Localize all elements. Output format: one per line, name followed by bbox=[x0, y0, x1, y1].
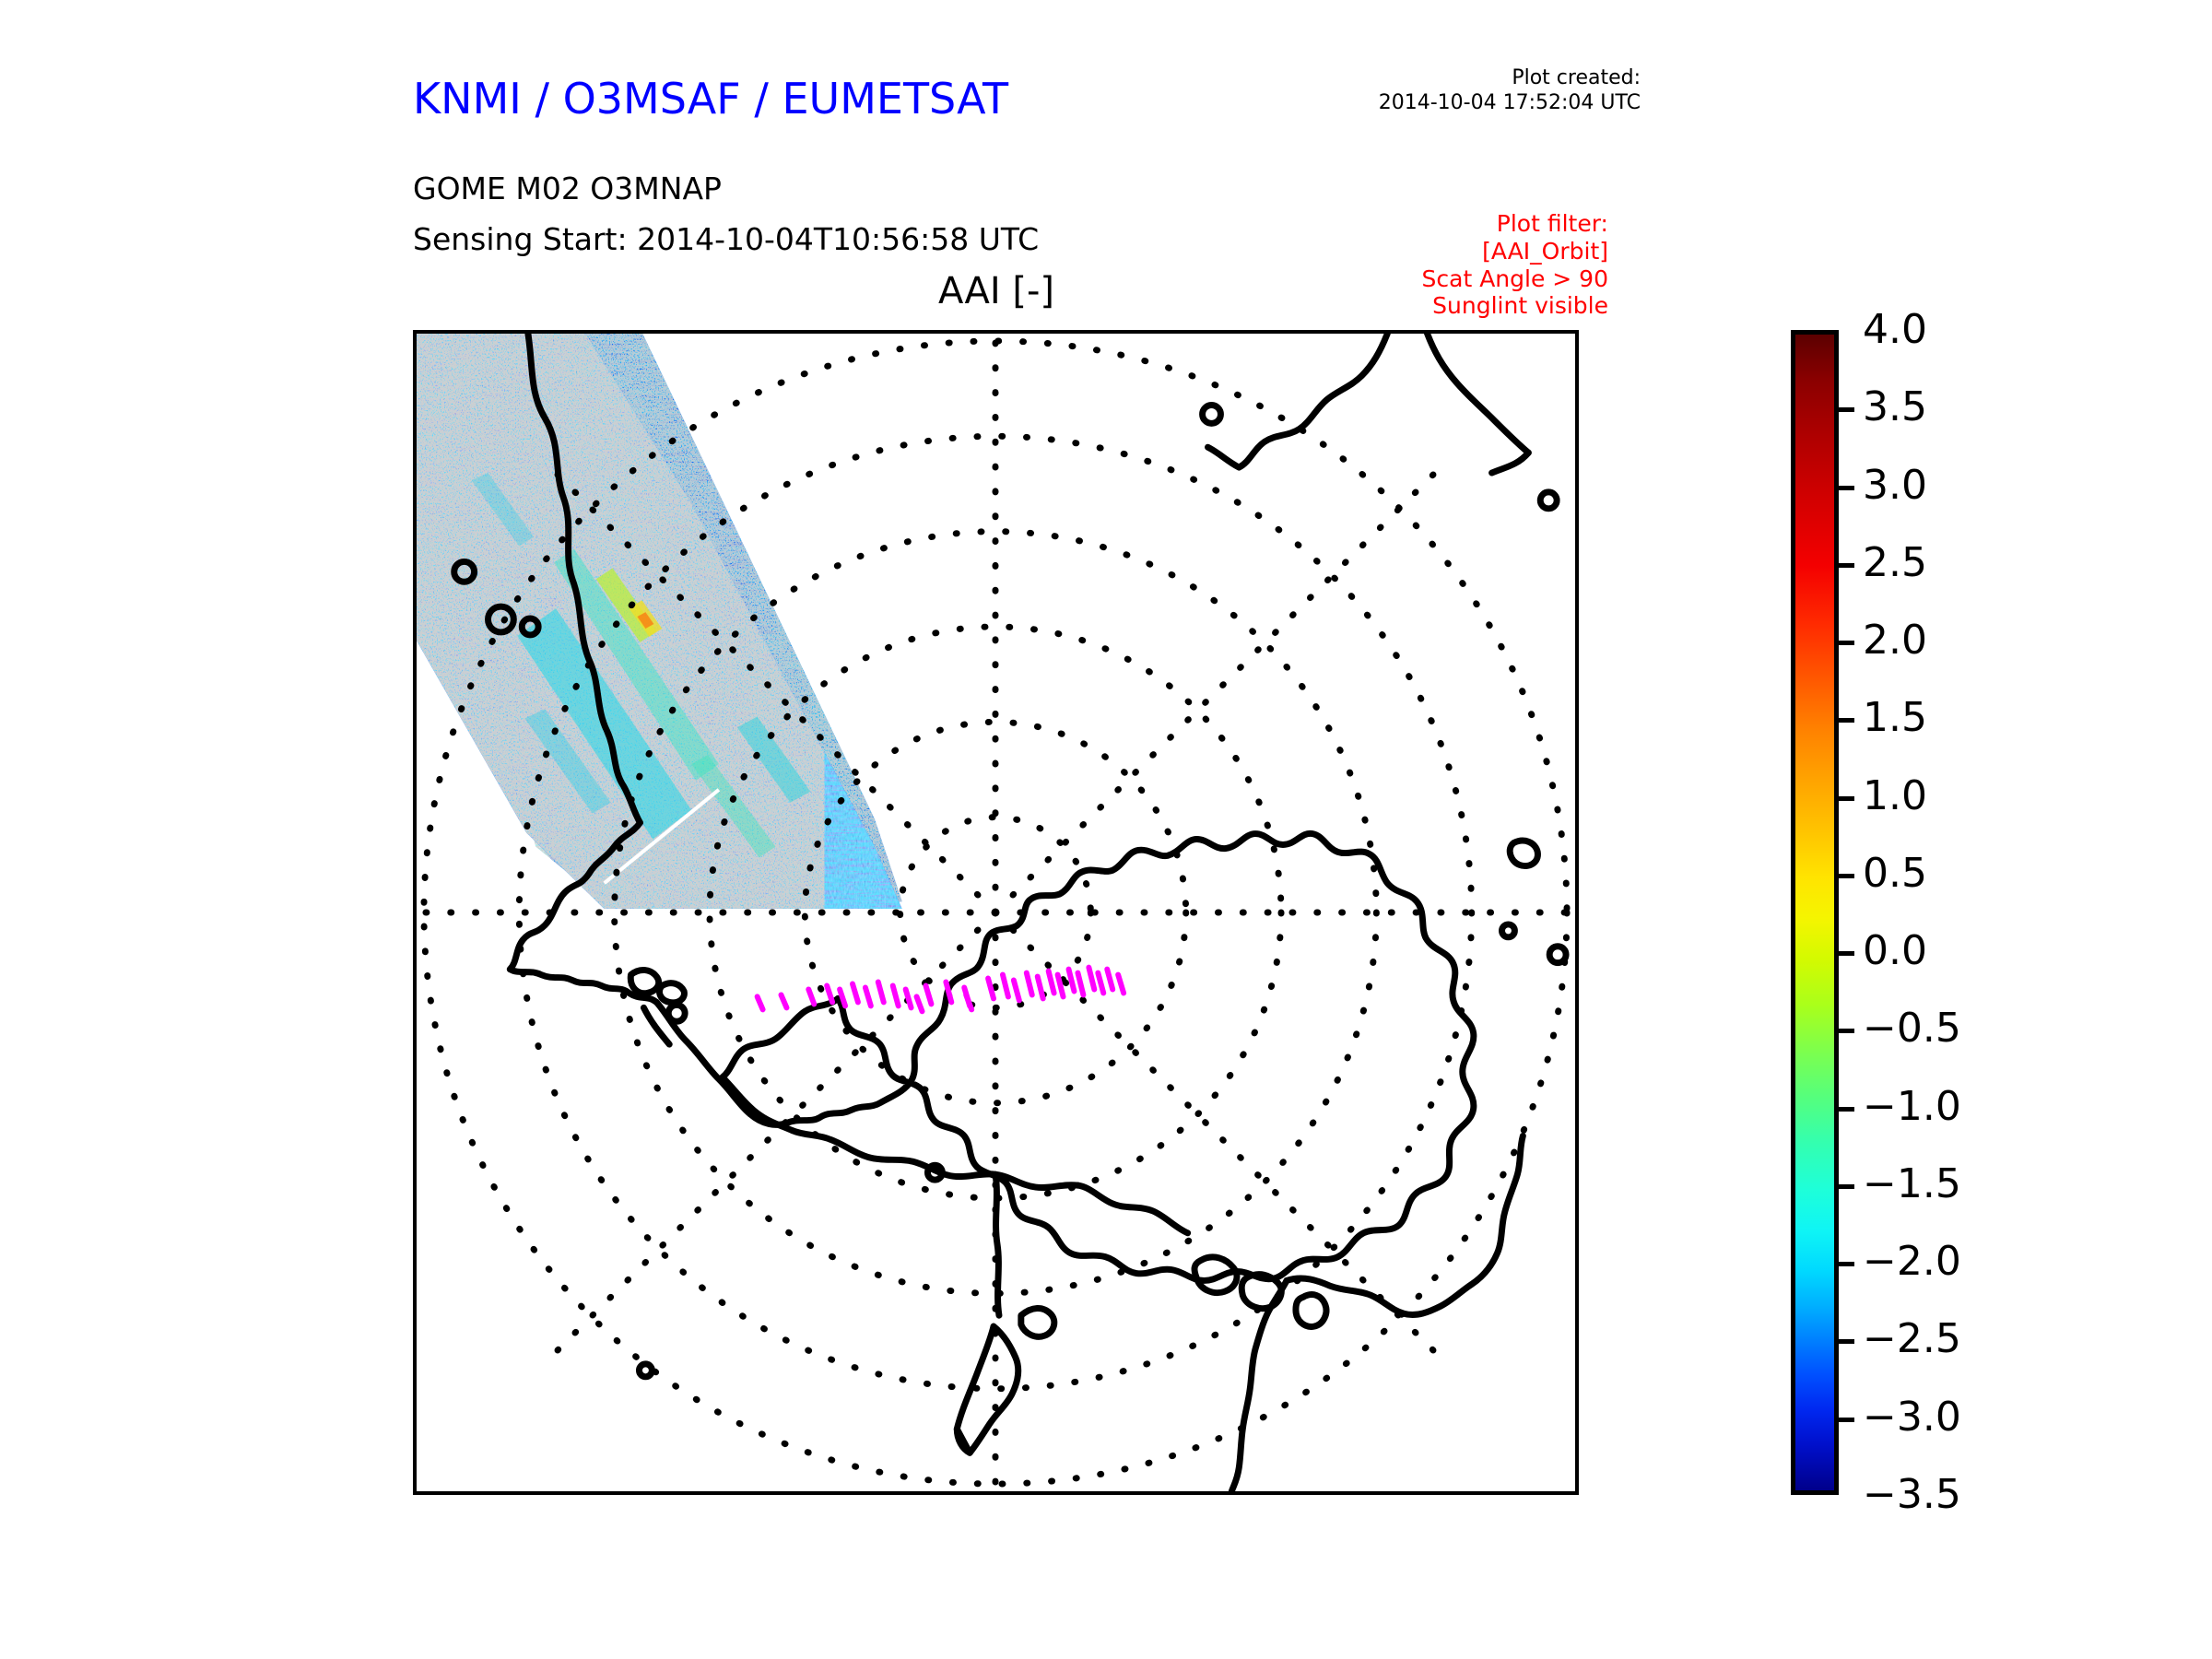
colorbar-tick-label: −3.0 bbox=[1863, 1397, 1961, 1438]
sensing-start-line: Sensing Start: 2014-10-04T10:56:58 UTC bbox=[413, 221, 1039, 257]
colorbar-tick-label: −0.5 bbox=[1863, 1008, 1961, 1049]
colorbar-tick bbox=[1839, 874, 1854, 878]
colorbar-tick bbox=[1839, 563, 1854, 568]
colorbar-tick bbox=[1839, 1418, 1854, 1422]
product-line: GOME M02 O3MNAP bbox=[413, 171, 722, 206]
colorbar-tick-label: −1.0 bbox=[1863, 1087, 1961, 1127]
colorbar-tick-label: −3.5 bbox=[1863, 1475, 1961, 1515]
colorbar-tick-label: 2.0 bbox=[1863, 620, 1927, 661]
colorbar-tick-label: −1.5 bbox=[1863, 1164, 1961, 1205]
colorbar-tick-label: 2.5 bbox=[1863, 543, 1927, 583]
colorbar-tick bbox=[1839, 1184, 1854, 1189]
colorbar-tick-label: 4.0 bbox=[1863, 310, 1927, 350]
plot-created-block: Plot created: 2014-10-04 17:52:04 UTC bbox=[1290, 66, 1641, 116]
colorbar-tick-label: 0.5 bbox=[1863, 853, 1927, 894]
colorbar: 4.03.53.02.52.01.51.00.50.0−0.5−1.0−1.5−… bbox=[1791, 330, 1839, 1495]
colorbar-gradient bbox=[1791, 330, 1839, 1495]
colorbar-tick-label: 1.0 bbox=[1863, 776, 1927, 817]
colorbar-tick bbox=[1839, 1339, 1854, 1344]
sunglint-markers bbox=[758, 968, 1124, 1012]
plot-filter-product: [AAI_Orbit] bbox=[1309, 238, 1608, 265]
page-title: AAI [-] bbox=[413, 270, 1580, 312]
colorbar-tick-label: −2.0 bbox=[1863, 1241, 1961, 1282]
colorbar-tick-label: 1.5 bbox=[1863, 698, 1927, 738]
colorbar-tick-label: −2.5 bbox=[1863, 1319, 1961, 1359]
colorbar-tick-label: 0.0 bbox=[1863, 931, 1927, 971]
colorbar-tick bbox=[1839, 641, 1854, 645]
map-plot-area bbox=[413, 330, 1579, 1495]
colorbar-tick-label: 3.5 bbox=[1863, 387, 1927, 428]
colorbar-tick bbox=[1839, 407, 1854, 412]
colorbar-tick bbox=[1839, 1029, 1854, 1033]
polar-map bbox=[417, 334, 1575, 1491]
plot-created-label: Plot created: bbox=[1290, 66, 1641, 91]
colorbar-tick-label: 3.0 bbox=[1863, 465, 1927, 506]
colorbar-tick bbox=[1839, 1107, 1854, 1112]
colorbar-tick bbox=[1839, 486, 1854, 490]
colorbar-tick bbox=[1839, 718, 1854, 723]
colorbar-tick bbox=[1839, 951, 1854, 956]
colorbar-tick bbox=[1839, 796, 1854, 801]
brand-title: KNMI / O3MSAF / EUMETSAT bbox=[413, 74, 1008, 124]
colorbar-tick bbox=[1839, 1262, 1854, 1266]
plot-created-value: 2014-10-04 17:52:04 UTC bbox=[1290, 91, 1641, 116]
plot-filter-label: Plot filter: bbox=[1309, 210, 1608, 238]
